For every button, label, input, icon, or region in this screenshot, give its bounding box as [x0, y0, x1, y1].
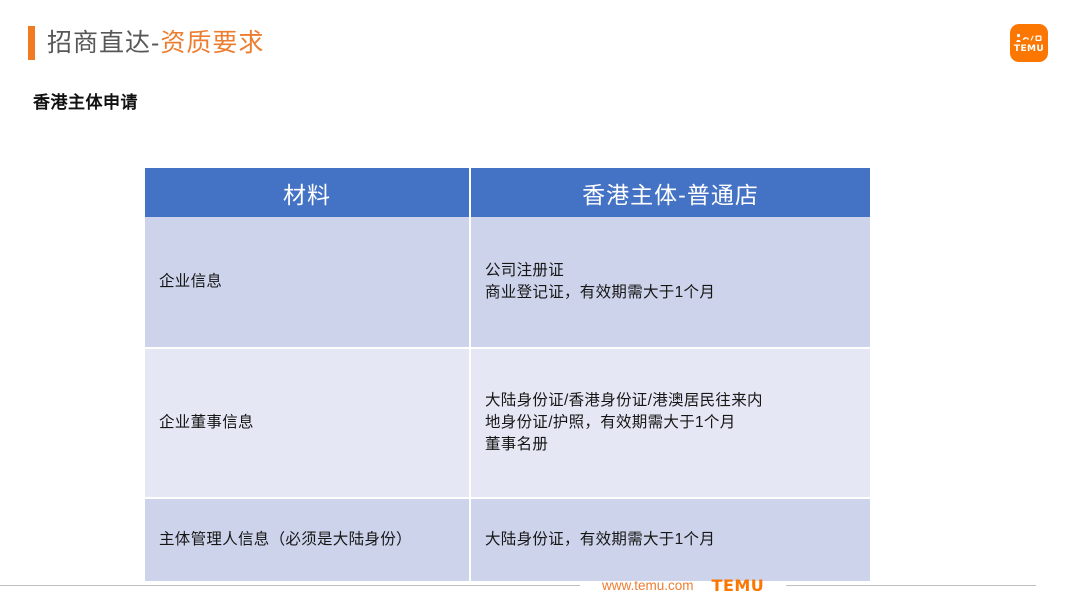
table-row: 企业董事信息 大陆身份证/香港身份证/港澳居民往来内 地身份证/护照，有效期需大… [145, 348, 870, 498]
qualification-requirements-table: 材料 香港主体-普通店 企业信息 公司注册证 商业登记证，有效期需大于1个月 企… [145, 168, 870, 581]
temu-logo: TEMU [1010, 24, 1048, 62]
slide-footer: www.temu.com TEMU [0, 568, 1080, 602]
table-row: 企业信息 公司注册证 商业登记证，有效期需大于1个月 [145, 217, 870, 348]
title-accent-text: 资质要求 [160, 29, 264, 57]
cell-requirements-company-info: 公司注册证 商业登记证，有效期需大于1个月 [470, 217, 870, 348]
temu-logo-wordmark: TEMU [1014, 44, 1044, 54]
footer-rule-left [0, 585, 580, 586]
requirement-line: 地身份证/护照，有效期需大于1个月 [485, 412, 856, 434]
slide-header: 招商直达-资质要求 香港主体申请 TEMU [0, 0, 1080, 80]
title-main-text: 招商直达- [47, 29, 160, 57]
cell-requirements-director-info: 大陆身份证/香港身份证/港澳居民往来内 地身份证/护照，有效期需大于1个月 董事… [470, 348, 870, 498]
requirement-line: 公司注册证 [485, 260, 856, 282]
title-text: 招商直达-资质要求 [47, 26, 264, 60]
requirement-line: 大陆身份证/香港身份证/港澳居民往来内 [485, 390, 856, 412]
footer-website-url: www.temu.com [602, 578, 694, 593]
footer-brand-wordmark: TEMU [712, 576, 765, 595]
requirement-line: 董事名册 [485, 434, 856, 456]
section-subtitle: 香港主体申请 [33, 88, 138, 113]
title-accent-bar [28, 26, 35, 60]
cell-material-company-info: 企业信息 [145, 217, 470, 348]
cell-material-director-info: 企业董事信息 [145, 348, 470, 498]
table-header-row: 材料 香港主体-普通店 [145, 168, 870, 217]
column-header-material: 材料 [145, 168, 470, 217]
footer-rule-right [786, 585, 1036, 586]
page-title: 招商直达-资质要求 [28, 26, 264, 60]
requirement-line: 商业登记证，有效期需大于1个月 [485, 282, 856, 304]
column-header-hk-standard-shop: 香港主体-普通店 [470, 168, 870, 217]
temu-logo-glyphs-icon [1016, 33, 1042, 43]
requirement-line: 大陆身份证，有效期需大于1个月 [485, 529, 856, 551]
